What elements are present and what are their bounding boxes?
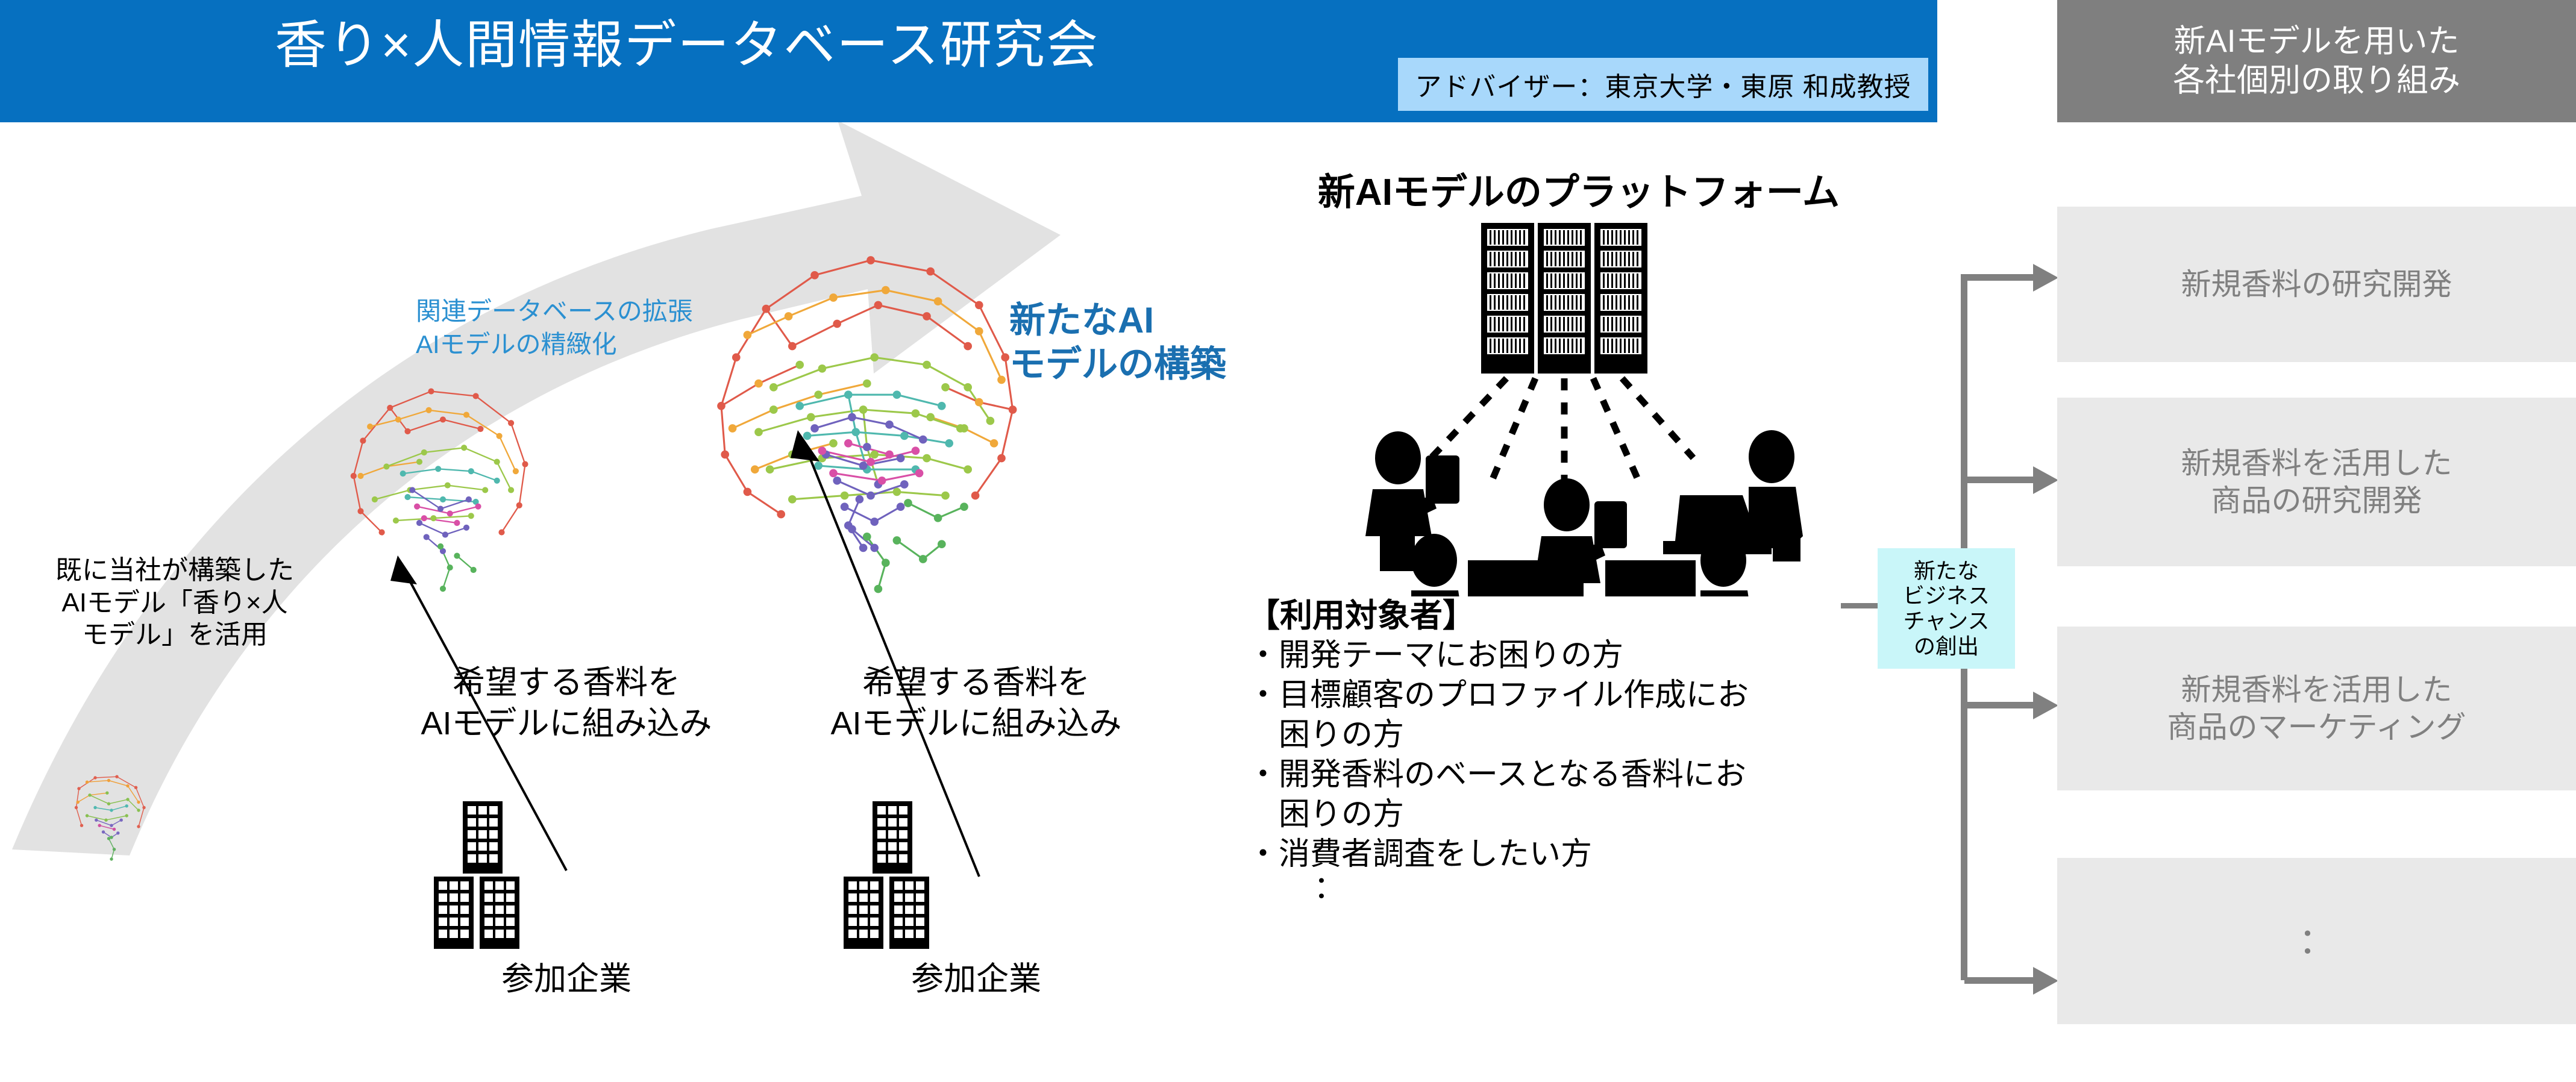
sidebar-card-3-line2: 商品のマーケティング — [2167, 708, 2466, 746]
label-participating-company-1: 参加企業 — [422, 952, 711, 999]
arrow-head-icon-4 — [2033, 967, 2058, 995]
connector-branch-1 — [1964, 274, 2042, 281]
label-newmodel-line2: モデルの構築 — [1009, 342, 1299, 386]
platform-servers-and-users-graphic — [1314, 223, 1856, 596]
business-chance-callout: 新たな ビジネス チャンス の創出 — [1878, 548, 2015, 669]
label-embed-fragrance-1: 希望する香料を AIモデルに組み込み — [398, 663, 735, 744]
list-item: ・開発香料のベースとなる香料にお — [1247, 756, 1886, 795]
connector-branch-2 — [1964, 477, 2042, 483]
platform-title: 新AIモデルのプラットフォーム — [1217, 161, 1940, 216]
list-item: 困りの方 — [1247, 796, 1886, 834]
sidebar-card-1-line1: 新規香料の研究開発 — [2181, 266, 2452, 304]
list-item: 困りの方 — [1247, 716, 1886, 755]
label-embed2-line2: AIモデルに組み込み — [807, 704, 1145, 745]
server-rack-icons — [1481, 223, 1647, 374]
sidebar-card-product-marketing[interactable]: 新規香料を活用した 商品のマーケティング — [2057, 627, 2576, 790]
label-existing-line3: モデル」を活用 — [6, 619, 343, 651]
label-newmodel-line1: 新たなAI — [1009, 298, 1299, 342]
dashed-connector-lines — [1431, 378, 1693, 488]
sidebar-card-2-line1: 新規香料を活用した — [2181, 445, 2452, 483]
sidebar-card-product-rnd[interactable]: 新規香料を活用した 商品の研究開発 — [2057, 398, 2576, 566]
list-item: ・消費者調査をしたい方 — [1247, 836, 1886, 874]
label-existing-line2: AIモデル「香り×人 — [6, 587, 343, 619]
list-item: ・目標顧客のプロファイル作成にお — [1247, 677, 1886, 715]
label-embed1-line2: AIモデルに組み込み — [398, 704, 735, 745]
arrow-head-icon-2 — [2033, 466, 2058, 494]
slide-canvas: 香り×人間情報データベース研究会 アドバイザー：東京大学・東原 和成教授 — [0, 0, 2576, 1082]
building-icon-group-1 — [392, 801, 572, 952]
connector-branch-3 — [1964, 702, 2042, 708]
sidebar-card-2-line2: 商品の研究開発 — [2181, 482, 2452, 520]
sidebar-header-line1: 新AIモデルを用いた — [2173, 22, 2460, 61]
arrow-head-icon-1 — [2033, 264, 2058, 292]
target-users-ellipsis: ： — [1247, 874, 1886, 902]
chance-line1: 新たな — [1903, 558, 1990, 584]
brain-network-small — [57, 756, 166, 865]
chance-connector-stub — [1841, 603, 1881, 608]
chance-line2: ビジネス — [1903, 583, 1990, 608]
list-item: ・開発テーマにお困りの方 — [1247, 637, 1886, 675]
advisor-badge-text: アドバイザー：東京大学・東原 和成教授 — [1415, 65, 1911, 104]
label-participating-company-2: 参加企業 — [832, 952, 1121, 999]
target-users-list: ・開発テーマにお困りの方 ・目標顧客のプロファイル作成にお 困りの方 ・開発香料… — [1247, 637, 1886, 874]
sidebar-card-3-line1: 新規香料を活用した — [2167, 671, 2466, 709]
chance-line4: の創出 — [1903, 634, 1990, 659]
connector-branch-4 — [1964, 977, 2042, 984]
label-blue-line1: 関連データベースの拡張 — [416, 295, 729, 328]
sidebar-card-4-line1: ： — [2299, 919, 2335, 964]
label-embed2-line1: 希望する香料を — [807, 663, 1145, 704]
person-icon-monitor-bottom-left — [1411, 534, 1559, 596]
page-title: 香り×人間情報データベース研究会 — [0, 17, 1374, 74]
label-database-expansion: 関連データベースの拡張 AIモデルの精緻化 — [416, 295, 729, 361]
label-embed-fragrance-2: 希望する香料を AIモデルに組み込み — [807, 663, 1145, 744]
advisor-badge: アドバイザー：東京大学・東原 和成教授 — [1398, 58, 1928, 111]
sidebar-card-new-fragrance-rnd[interactable]: 新規香料の研究開発 — [2057, 207, 2576, 362]
building-icon-group-2 — [801, 801, 982, 952]
label-existing-line1: 既に当社が構築した — [6, 554, 343, 587]
label-new-ai-model: 新たなAI モデルの構築 — [1009, 298, 1299, 386]
right-sidebar: 新AIモデルを用いた 各社個別の取り組み 新規香料の研究開発 新規香料を活用した… — [2057, 0, 2576, 1082]
label-existing-model: 既に当社が構築した AIモデル「香り×人 モデル」を活用 — [6, 554, 343, 651]
sidebar-card-more[interactable]: ： — [2057, 858, 2576, 1024]
target-users-block: 【利用対象者】 ・開発テーマにお困りの方 ・目標顧客のプロファイル作成にお 困り… — [1247, 596, 1886, 902]
label-blue-line2: AIモデルの精緻化 — [416, 328, 729, 361]
chance-line3: チャンス — [1903, 608, 1990, 634]
sidebar-header-line2: 各社個別の取り組み — [2173, 61, 2460, 101]
label-embed1-line1: 希望する香料を — [398, 663, 735, 704]
arrow-head-icon-3 — [2033, 692, 2058, 719]
target-users-title: 【利用対象者】 — [1247, 596, 1886, 636]
sidebar-header: 新AIモデルを用いた 各社個別の取り組み — [2057, 0, 2576, 122]
